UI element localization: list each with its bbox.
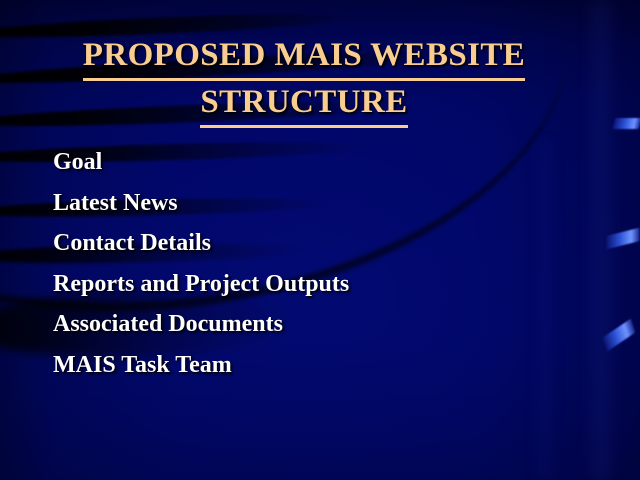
bullet-item-contact-details: Contact Details <box>53 223 593 264</box>
slide-bullet-list: Goal Latest News Contact Details Reports… <box>53 142 593 385</box>
bullet-label: Latest News <box>53 190 178 216</box>
presentation-slide: PROPOSED MAIS WEBSITE STRUCTURE Goal Lat… <box>0 0 640 480</box>
bullet-item-reports-and-project-outputs: Reports and Project Outputs <box>53 264 593 305</box>
bullet-item-latest-news: Latest News <box>53 183 593 224</box>
bullet-item-mais-task-team: MAIS Task Team <box>53 345 593 386</box>
slide-title: PROPOSED MAIS WEBSITE STRUCTURE <box>20 34 588 128</box>
bullet-label: Contact Details <box>53 230 211 256</box>
bullet-item-goal: Goal <box>53 142 593 183</box>
slide-title-line-2-text: STRUCTURE <box>200 81 407 128</box>
slide-content: PROPOSED MAIS WEBSITE STRUCTURE Goal Lat… <box>0 0 640 480</box>
bullet-item-associated-documents: Associated Documents <box>53 304 593 345</box>
bullet-label: Associated Documents <box>53 311 283 337</box>
slide-title-line-1: PROPOSED MAIS WEBSITE <box>20 34 588 81</box>
bullet-label: Reports and Project Outputs <box>53 271 349 297</box>
slide-title-line-1-text: PROPOSED MAIS WEBSITE <box>83 34 525 81</box>
bullet-label: MAIS Task Team <box>53 352 232 378</box>
slide-title-line-2: STRUCTURE <box>20 81 588 128</box>
bullet-label: Goal <box>53 149 102 175</box>
